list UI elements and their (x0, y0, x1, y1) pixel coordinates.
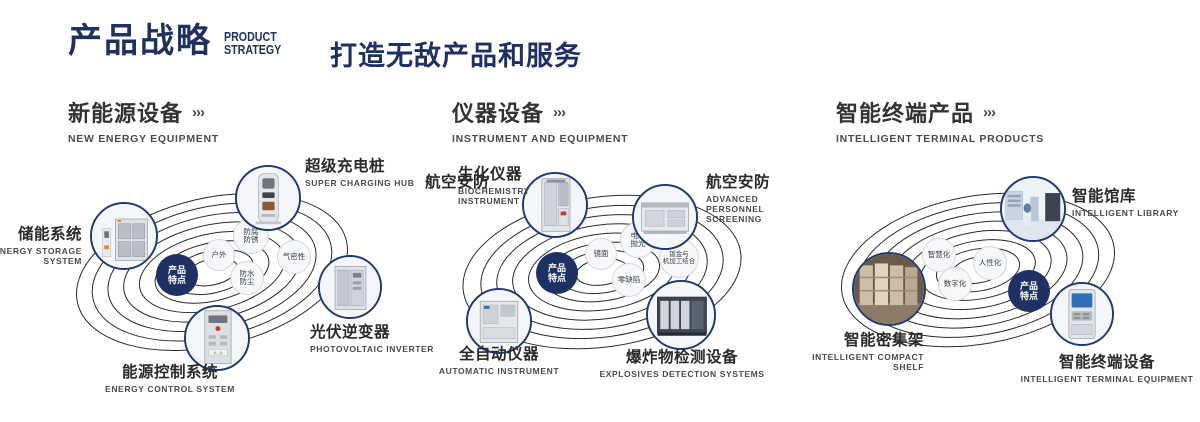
page-subtitle: 打造无敌产品和服务 (330, 34, 582, 73)
product-circle-personnel-screening[interactable] (632, 184, 698, 250)
chevrons-right-icon: ››› (553, 104, 565, 121)
product-circle-charging-hub[interactable] (235, 165, 301, 231)
product-label-en: INTELLIGENT COMPACT SHELF (724, 352, 924, 372)
product-label-compact-shelf: 智能密集架 INTELLIGENT COMPACT SHELF (724, 328, 924, 372)
terminal-kiosk-icon (1052, 284, 1112, 344)
product-label-en: AUTOMATIC INSTRUMENT (409, 366, 589, 376)
charging-pile-icon (237, 167, 299, 229)
feature-bubble-zero-defect: 零缺陷 (612, 263, 646, 297)
product-circle-biochemistry[interactable] (522, 172, 588, 238)
product-label-smart-library: 智能馆库 INTELLIGENT LIBRARY (1072, 184, 1179, 218)
section-heading-intelligent-terminal: 智能终端产品 ››› INTELLIGENT TERMINAL PRODUCTS (836, 96, 1044, 145)
product-label-cn: 光伏逆变器 (310, 320, 434, 342)
explosives-detector-icon (648, 282, 714, 348)
product-label-cn: 智能馆库 (1072, 184, 1179, 206)
feature-bubble-outdoor: 户外 (203, 239, 235, 271)
feature-main-line2: 特点 (168, 275, 186, 285)
inverter-cabinet-icon (320, 257, 380, 317)
product-label-cn: 储能系统 (0, 222, 82, 244)
personnel-screening-icon (634, 186, 696, 248)
product-label-en: ENERGY STORAGE SYSTEM (0, 246, 82, 266)
feature-main-line1: 产品 (548, 263, 566, 273)
feature-main-line1: 产品 (1020, 281, 1038, 291)
smart-library-icon (1002, 178, 1064, 240)
feature-bubble-main: 产品 特点 (536, 252, 578, 294)
product-label-automatic-instrument: 全自动仪器 AUTOMATIC INSTRUMENT (409, 342, 589, 376)
product-label-en: ADVANCED PERSONNEL SCREENING (706, 194, 804, 224)
product-label-cn: 智能密集架 (724, 328, 924, 350)
section-title-en: NEW ENERGY EQUIPMENT (68, 133, 219, 145)
product-label-en: INTELLIGENT LIBRARY (1072, 208, 1179, 218)
svg-text:A A: A A (214, 350, 223, 356)
product-label-cn: 智能终端设备 (1012, 350, 1200, 372)
product-circle-energy-storage[interactable] (90, 202, 158, 270)
cluster-intelligent-terminal-products: 智慧化 人性化 数字化 产品 特点 智能馆 (810, 160, 1200, 395)
product-circle-terminal-kiosk[interactable] (1050, 282, 1114, 346)
product-circle-compact-shelf[interactable] (852, 252, 926, 326)
product-label-cn: 航空安防 (706, 170, 804, 192)
cluster-new-energy-equipment: 产品 特点 户外 防腐 防锈 气密性 防水 防尘 储能系统 (40, 160, 420, 395)
section-title-cn: 新能源设备 (68, 96, 183, 128)
section-title-en: INSTRUMENT AND EQUIPMENT (452, 133, 628, 145)
page-title-cn: 产品战略 (68, 24, 212, 58)
battery-cabinet-icon (92, 204, 156, 268)
feature-bubble-main: 产品 特点 (156, 254, 198, 296)
section-heading-new-energy: 新能源设备 ››› NEW ENERGY EQUIPMENT (68, 96, 219, 145)
product-circle-explosives-detection[interactable] (646, 280, 716, 350)
product-label-energy-control: 能源控制系统 ENERGY CONTROL SYSTEM (80, 360, 260, 394)
feature-bubble-mirror: 镜面 (585, 238, 617, 270)
product-label-cn: 能源控制系统 (80, 360, 260, 382)
product-label-terminal-kiosk: 智能终端设备 INTELLIGENT TERMINAL EQUIPMENT (1012, 350, 1200, 384)
product-label-biochemistry: 生化仪器 BIOCHEMISTRY INSTRUMENT (458, 162, 530, 206)
feature-bubble-humanized: 人性化 (973, 246, 1007, 280)
product-label-en: BIOCHEMISTRY INSTRUMENT (458, 186, 530, 206)
feature-bubble-main: 产品 特点 (1008, 270, 1050, 312)
page-header: 产品战略 PRODUCT STRATEGY (68, 24, 294, 58)
product-label-personnel-screening: 航空安防 ADVANCED PERSONNEL SCREENING (706, 170, 804, 224)
chevrons-right-icon: ››› (192, 104, 204, 121)
product-strategy-infographic: 产品战略 PRODUCT STRATEGY 打造无敌产品和服务 新能源设备 ››… (0, 0, 1200, 422)
product-circle-smart-library[interactable] (1000, 176, 1066, 242)
product-label-cn: 生化仪器 (458, 162, 530, 184)
biochemistry-instrument-icon (524, 174, 586, 236)
product-label-energy-storage: 储能系统 ENERGY STORAGE SYSTEM (0, 222, 82, 266)
product-label-en: ENERGY CONTROL SYSTEM (80, 384, 260, 394)
page-title-en: PRODUCT STRATEGY (224, 30, 281, 56)
feature-main-line1: 产品 (168, 265, 186, 275)
section-title-cn: 仪器设备 (452, 96, 544, 128)
compact-shelf-icon (854, 254, 924, 324)
feature-main-line2: 特点 (1020, 291, 1038, 301)
section-title-cn: 智能终端产品 (836, 96, 974, 128)
product-label-cn: 全自动仪器 (409, 342, 589, 364)
product-label-en: INTELLIGENT TERMINAL EQUIPMENT (1012, 374, 1200, 384)
chevrons-right-icon: ››› (983, 104, 995, 121)
feature-bubble-digital: 数字化 (938, 267, 972, 301)
product-circle-pv-inverter[interactable] (318, 255, 382, 319)
feature-main-line2: 特点 (548, 273, 566, 283)
feature-bubble-waterproof: 防水 防尘 (230, 261, 264, 295)
section-heading-instrument: 仪器设备 ››› INSTRUMENT AND EQUIPMENT (452, 96, 628, 145)
section-title-en: INTELLIGENT TERMINAL PRODUCTS (836, 133, 1044, 145)
page-title-en-line2: STRATEGY (224, 43, 281, 56)
feature-bubble-airtight: 气密性 (277, 240, 311, 274)
